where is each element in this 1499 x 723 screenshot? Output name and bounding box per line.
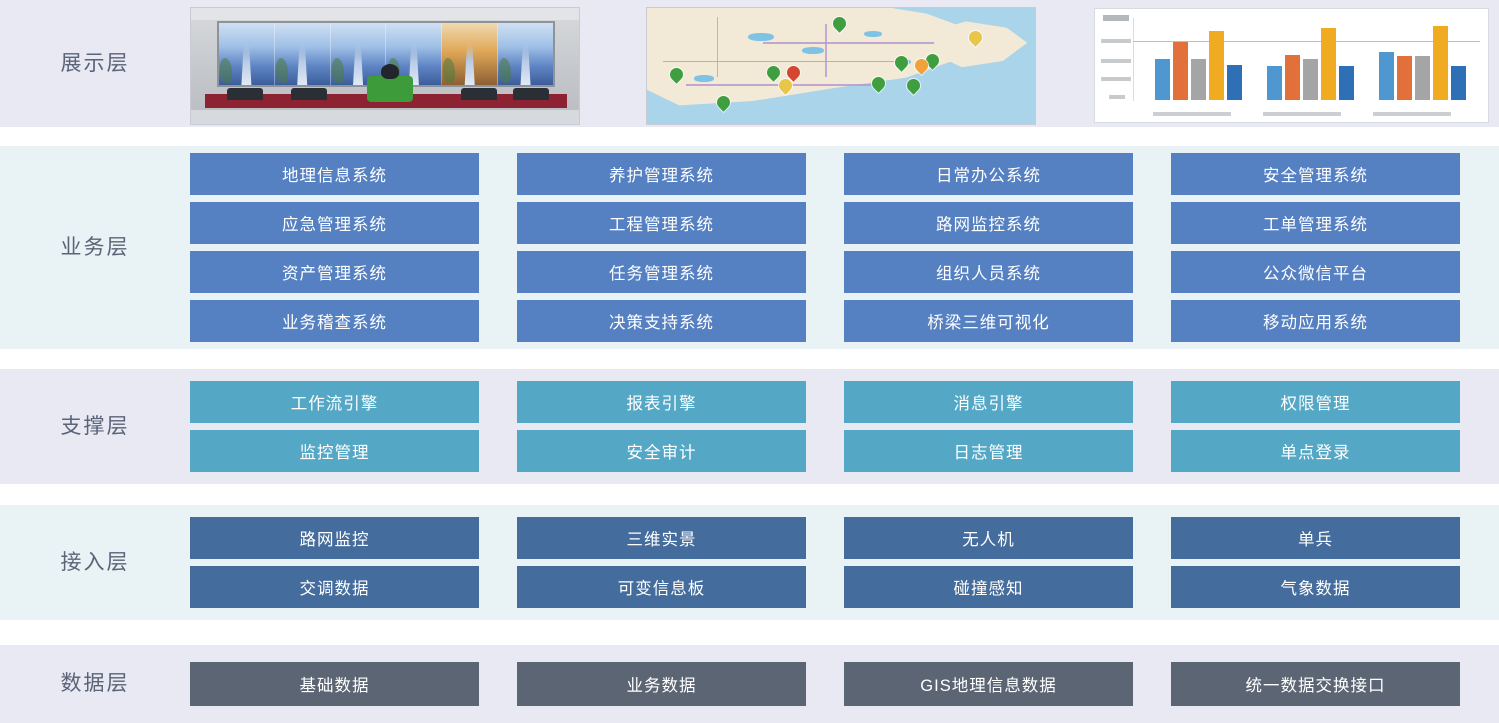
video-wall-thumbnail bbox=[190, 7, 580, 125]
module-box[interactable]: 业务数据 bbox=[517, 662, 806, 706]
chart-bar bbox=[1209, 31, 1224, 100]
module-box[interactable]: 日常办公系统 bbox=[844, 153, 1133, 195]
chart-bar bbox=[1451, 66, 1466, 100]
table-row: 业务稽查系统 决策支持系统 桥梁三维可视化 移动应用系统 bbox=[190, 300, 1499, 342]
module-box[interactable]: 基础数据 bbox=[190, 662, 479, 706]
module-box[interactable]: 决策支持系统 bbox=[517, 300, 806, 342]
chart-bar-groups bbox=[1143, 21, 1478, 100]
access-module-grid: 路网监控 三维实景 无人机 单兵 交调数据 可变信息板 碰撞感知 气象数据 bbox=[190, 505, 1499, 620]
chart-bar bbox=[1155, 59, 1170, 100]
chart-bar bbox=[1321, 28, 1336, 100]
layer-label-support: 支撑层 bbox=[0, 414, 190, 439]
module-box[interactable]: 气象数据 bbox=[1171, 566, 1460, 608]
module-box[interactable]: 地理信息系统 bbox=[190, 153, 479, 195]
module-box[interactable]: 单点登录 bbox=[1171, 430, 1460, 472]
module-box[interactable]: 碰撞感知 bbox=[844, 566, 1133, 608]
layer-access: 接入层 路网监控 三维实景 无人机 单兵 交调数据 可变信息板 碰撞感知 气象数… bbox=[0, 505, 1499, 620]
module-box[interactable]: 单兵 bbox=[1171, 517, 1460, 559]
layer-label-presentation: 展示层 bbox=[0, 51, 190, 76]
module-box[interactable]: 安全管理系统 bbox=[1171, 153, 1460, 195]
layer-label-business: 业务层 bbox=[0, 235, 190, 260]
module-box[interactable]: 消息引擎 bbox=[844, 381, 1133, 423]
chart-bar bbox=[1415, 56, 1430, 100]
chart-group bbox=[1267, 28, 1354, 100]
data-module-grid: 基础数据 业务数据 GIS地理信息数据 统一数据交换接口 bbox=[190, 645, 1499, 723]
module-box[interactable]: 统一数据交换接口 bbox=[1171, 662, 1460, 706]
module-box[interactable]: 公众微信平台 bbox=[1171, 251, 1460, 293]
table-row: 工作流引擎 报表引擎 消息引擎 权限管理 bbox=[190, 381, 1499, 423]
system-architecture-diagram: 展示层 bbox=[0, 0, 1499, 723]
business-module-grid: 地理信息系统 养护管理系统 日常办公系统 安全管理系统 应急管理系统 工程管理系… bbox=[190, 146, 1499, 349]
module-box[interactable]: 应急管理系统 bbox=[190, 202, 479, 244]
module-box[interactable]: 报表引擎 bbox=[517, 381, 806, 423]
module-box[interactable]: 组织人员系统 bbox=[844, 251, 1133, 293]
table-row: 基础数据 业务数据 GIS地理信息数据 统一数据交换接口 bbox=[190, 662, 1499, 706]
module-box[interactable]: 路网监控 bbox=[190, 517, 479, 559]
module-box[interactable]: 监控管理 bbox=[190, 430, 479, 472]
module-box[interactable]: 业务稽查系统 bbox=[190, 300, 479, 342]
layer-label-data: 数据层 bbox=[0, 671, 190, 696]
chart-bar bbox=[1267, 66, 1282, 100]
module-box[interactable]: 可变信息板 bbox=[517, 566, 806, 608]
gis-map-thumbnail bbox=[646, 7, 1036, 125]
bar-chart-thumbnail bbox=[1094, 8, 1489, 123]
chart-bar bbox=[1397, 56, 1412, 100]
table-row: 资产管理系统 任务管理系统 组织人员系统 公众微信平台 bbox=[190, 251, 1499, 293]
table-row: 交调数据 可变信息板 碰撞感知 气象数据 bbox=[190, 566, 1499, 608]
table-row: 地理信息系统 养护管理系统 日常办公系统 安全管理系统 bbox=[190, 153, 1499, 195]
presentation-thumbnails bbox=[190, 0, 1499, 127]
table-row: 路网监控 三维实景 无人机 单兵 bbox=[190, 517, 1499, 559]
module-box[interactable]: 无人机 bbox=[844, 517, 1133, 559]
chart-bar bbox=[1303, 59, 1318, 100]
module-box[interactable]: 工单管理系统 bbox=[1171, 202, 1460, 244]
module-box[interactable]: 日志管理 bbox=[844, 430, 1133, 472]
chart-group bbox=[1379, 26, 1466, 100]
module-box[interactable]: 权限管理 bbox=[1171, 381, 1460, 423]
module-box[interactable]: 安全审计 bbox=[517, 430, 806, 472]
module-box[interactable]: 任务管理系统 bbox=[517, 251, 806, 293]
chart-bar bbox=[1285, 55, 1300, 100]
chart-bar bbox=[1339, 66, 1354, 100]
module-box[interactable]: 养护管理系统 bbox=[517, 153, 806, 195]
module-box[interactable]: 工程管理系统 bbox=[517, 202, 806, 244]
chart-group bbox=[1155, 31, 1242, 100]
layer-support: 支撑层 工作流引擎 报表引擎 消息引擎 权限管理 监控管理 安全审计 日志管理 … bbox=[0, 369, 1499, 484]
module-box[interactable]: GIS地理信息数据 bbox=[844, 662, 1133, 706]
module-box[interactable]: 路网监控系统 bbox=[844, 202, 1133, 244]
module-box[interactable]: 桥梁三维可视化 bbox=[844, 300, 1133, 342]
chart-bar bbox=[1433, 26, 1448, 100]
support-module-grid: 工作流引擎 报表引擎 消息引擎 权限管理 监控管理 安全审计 日志管理 单点登录 bbox=[190, 369, 1499, 484]
layer-presentation: 展示层 bbox=[0, 0, 1499, 127]
chart-bar bbox=[1173, 42, 1188, 100]
layer-label-access: 接入层 bbox=[0, 550, 190, 575]
module-box[interactable]: 三维实景 bbox=[517, 517, 806, 559]
chart-bar bbox=[1191, 59, 1206, 100]
table-row: 应急管理系统 工程管理系统 路网监控系统 工单管理系统 bbox=[190, 202, 1499, 244]
module-box[interactable]: 移动应用系统 bbox=[1171, 300, 1460, 342]
layer-data: 数据层 基础数据 业务数据 GIS地理信息数据 统一数据交换接口 bbox=[0, 645, 1499, 723]
layer-business: 业务层 地理信息系统 养护管理系统 日常办公系统 安全管理系统 应急管理系统 工… bbox=[0, 146, 1499, 349]
module-box[interactable]: 资产管理系统 bbox=[190, 251, 479, 293]
chart-bar bbox=[1227, 65, 1242, 100]
table-row: 监控管理 安全审计 日志管理 单点登录 bbox=[190, 430, 1499, 472]
module-box[interactable]: 交调数据 bbox=[190, 566, 479, 608]
module-box[interactable]: 工作流引擎 bbox=[190, 381, 479, 423]
chart-bar bbox=[1379, 52, 1394, 100]
